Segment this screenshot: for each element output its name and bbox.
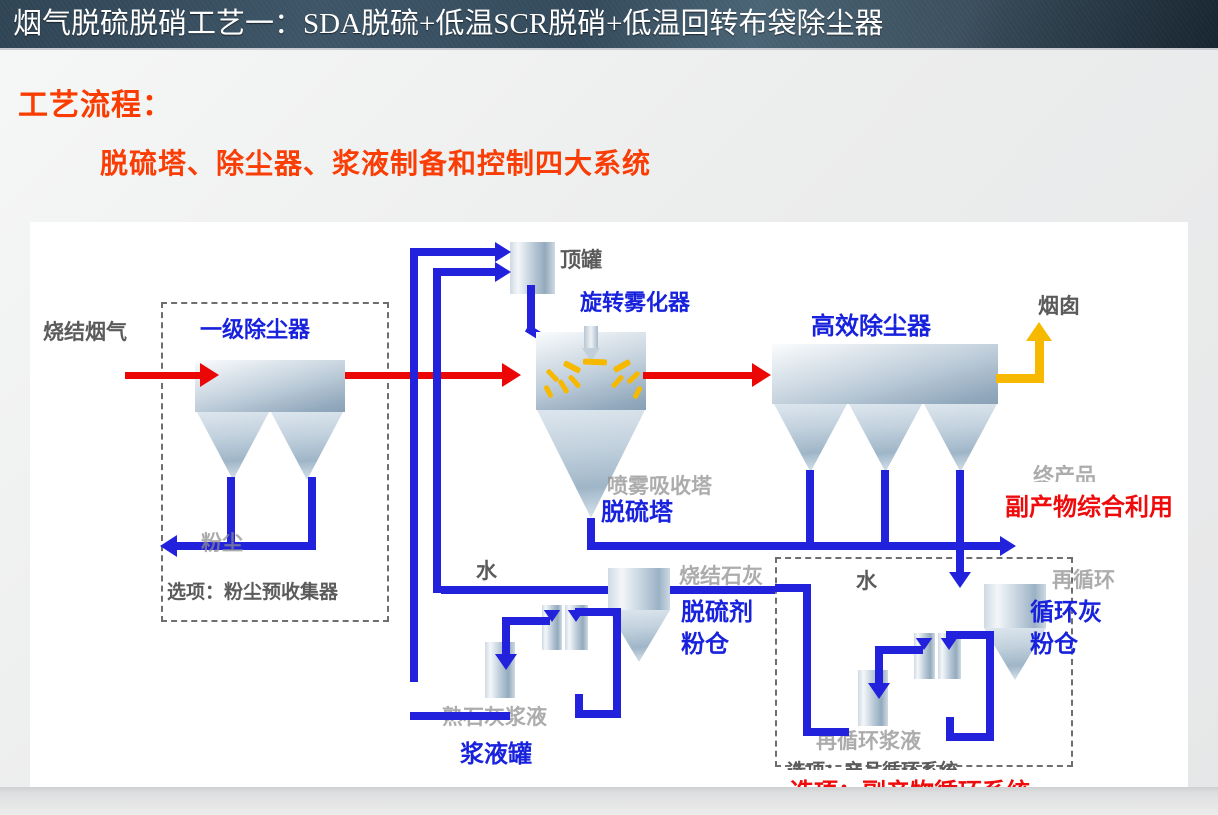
dust-collect-header [177, 542, 316, 550]
duct-tower-to-collector-arrow-icon [752, 363, 771, 387]
recycle-silo-discharge-vertical [986, 631, 994, 741]
label-top-tank: 顶罐 [560, 244, 602, 274]
he-hopper-drop-2 [881, 470, 889, 549]
high-efficiency-collector-hopper-2 [849, 404, 922, 472]
label-desulfurizer-silo-line1: 脱硫剂 [681, 592, 753, 627]
slurry-tank-feed-vertical [502, 617, 510, 659]
duct-collector-to-tower-arrow-icon [502, 363, 521, 387]
label-recycle-ash-silo-line2: 粉仓 [1030, 624, 1078, 659]
label-sintered-lime-faded: 烧结石灰 [679, 560, 763, 590]
he-hopper-drop-3 [956, 470, 964, 575]
silo-discharge-vertical [613, 608, 621, 718]
spray-dash-6 [583, 359, 607, 366]
silo-discharge-elbow [575, 694, 583, 718]
inlet-gas-arrow-icon [200, 363, 219, 387]
recycle-slurry-feed-arrow-icon [868, 683, 890, 699]
ash-header-line [587, 542, 1007, 550]
slurry-tank-feed-arrow-icon [495, 654, 517, 670]
dust-drop-pipe-2 [308, 477, 316, 550]
top-tank-feed-horizontal-1 [410, 248, 502, 256]
rotary-atomizer-shaft [584, 326, 598, 350]
dust-outlet-arrow-icon [160, 535, 177, 557]
label-desulfurizer-silo-line2: 粉仓 [681, 624, 729, 659]
high-efficiency-collector-hopper-3 [924, 404, 997, 472]
label-high-efficiency-collector: 高效除尘器 [811, 306, 931, 341]
slurry-outlet-to-riser [410, 712, 510, 720]
chimney-arrow-icon [1026, 322, 1052, 341]
top-tank-feed-arrow-1-icon [495, 242, 511, 262]
recycle-return-vertical [803, 584, 811, 736]
label-water-left: 水 [476, 555, 497, 585]
top-tank-feed-vertical-1 [410, 248, 418, 682]
label-byproduct-utilization: 副产物综合利用 [1005, 487, 1173, 522]
page-subtitle: 脱硫塔、除尘器、浆液制备和控制四大系统 [100, 142, 651, 182]
recycle-silo-discharge-elbow [946, 717, 954, 741]
recycle-return-horizontal-bottom [803, 728, 849, 736]
top-tank-feed-vertical-2 [433, 268, 441, 593]
high-efficiency-collector-hopper-1 [774, 404, 847, 472]
duct-collector-to-tower [345, 372, 507, 379]
mix-vessel-right-b-arrow-icon [941, 638, 958, 650]
label-inlet-gas: 烧结烟气 [43, 316, 127, 346]
label-recycle-faded: 再循环 [1052, 564, 1115, 594]
label-desulfurization-tower: 脱硫塔 [601, 492, 673, 527]
page-title: 工艺流程： [18, 80, 173, 124]
label-primary-dust-collector: 一级除尘器 [200, 312, 310, 344]
he-hopper-drop-1 [806, 470, 814, 549]
label-rotary-atomizer: 旋转雾化器 [580, 285, 690, 317]
label-option-dust-precollector: 选项：粉尘预收集器 [167, 577, 338, 604]
process-flow-diagram: 一级除尘器 烧结烟气 粉尘 选项：粉尘预收集器 顶罐 [30, 222, 1188, 787]
top-tank-feed-horizontal-2 [433, 268, 502, 276]
slide-title-bar: 烟气脱硫脱硝工艺一：SDA脱硫+低温SCR脱硝+低温回转布袋除尘器 [0, 0, 1218, 50]
recycle-ash-feed-arrow-icon [949, 572, 971, 588]
slurry-tank-left [485, 642, 515, 698]
recycle-slurry-feed-vertical [875, 646, 883, 688]
label-slurry-tank: 浆液罐 [460, 734, 532, 769]
slide-page: 烟气脱硫脱硝工艺一：SDA脱硫+低温SCR脱硝+低温回转布袋除尘器 工艺流程： … [0, 0, 1218, 815]
inlet-gas-line [125, 372, 203, 379]
desulfurizer-silo-body [608, 568, 670, 610]
slide-footer-band [0, 787, 1218, 815]
top-tank-feed-arrow-2-icon [495, 262, 511, 282]
label-dust: 粉尘 [201, 527, 243, 557]
duct-tower-to-collector [643, 372, 757, 379]
label-chimney: 烟囱 [1038, 290, 1080, 320]
dashed-box-dust-precollector [161, 302, 389, 622]
label-recycle-ash-silo-line1: 循环灰 [1030, 592, 1102, 627]
label-water-right: 水 [856, 565, 877, 595]
ash-header-arrow-icon [1000, 536, 1016, 556]
clean-gas-vertical [1035, 340, 1044, 382]
high-efficiency-collector-body [772, 344, 998, 404]
slide-title: 烟气脱硫脱硝工艺一：SDA脱硫+低温SCR脱硝+低温回转布袋除尘器 [13, 4, 884, 44]
